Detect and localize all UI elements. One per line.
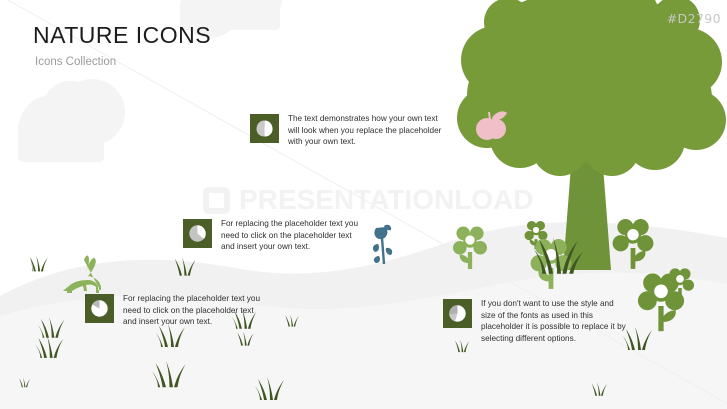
tree-canopy xyxy=(457,0,726,176)
grass-icon xyxy=(255,377,284,400)
grass-icon xyxy=(534,237,583,273)
flower-icon xyxy=(638,273,684,331)
flower-icon xyxy=(531,239,572,289)
grass-icon xyxy=(285,314,299,326)
text-placeholder-block[interactable]: The text demonstrates how your own text … xyxy=(250,114,450,148)
grass-icon xyxy=(175,257,196,275)
grass-icon xyxy=(30,255,48,271)
slide-canvas: PRESENTATIONLOAD xyxy=(0,0,727,409)
pie-chart-icon xyxy=(443,299,472,328)
apple-icon xyxy=(476,111,507,140)
watermark-logo-icon xyxy=(203,187,230,214)
grass-icon xyxy=(38,317,64,338)
leaf-icon xyxy=(250,114,279,143)
page-subtitle: Icons Collection xyxy=(35,56,211,68)
text-placeholder-body: For replacing the placeholder text you n… xyxy=(123,293,268,328)
text-placeholder-body: If you don't want to use the style and s… xyxy=(481,298,629,345)
text-placeholder-block[interactable]: For replacing the placeholder text you n… xyxy=(85,294,268,328)
pie-chart-icon xyxy=(85,294,114,323)
text-placeholder-body: For replacing the placeholder text you n… xyxy=(221,218,366,253)
text-placeholder-block[interactable]: If you don't want to use the style and s… xyxy=(443,299,629,345)
flower-icon xyxy=(525,221,548,249)
grass-icon xyxy=(592,382,607,395)
cloud-icon xyxy=(18,79,125,162)
grass-icon xyxy=(36,336,64,358)
text-placeholder-body: The text demonstrates how your own text … xyxy=(288,113,450,148)
watermark: PRESENTATIONLOAD xyxy=(203,186,534,214)
pie-chart-icon xyxy=(183,219,212,248)
grass-icon xyxy=(152,361,185,387)
grass-icon xyxy=(237,331,253,345)
grass-icon xyxy=(19,378,30,388)
text-placeholder-block[interactable]: For replacing the placeholder text you n… xyxy=(183,219,366,253)
flower-icon xyxy=(666,268,694,300)
title-block: NATURE ICONS Icons Collection xyxy=(33,23,211,68)
bluebell-flower-icon xyxy=(373,225,392,264)
watermark-text: PRESENTATIONLOAD xyxy=(239,186,534,214)
flower-icon xyxy=(453,227,487,270)
page-title: NATURE ICONS xyxy=(33,23,211,48)
rabbit-icon xyxy=(63,256,101,294)
slide-id-label: #D2790 xyxy=(667,11,721,26)
flower-icon xyxy=(613,219,654,269)
tree-trunk xyxy=(563,140,611,270)
